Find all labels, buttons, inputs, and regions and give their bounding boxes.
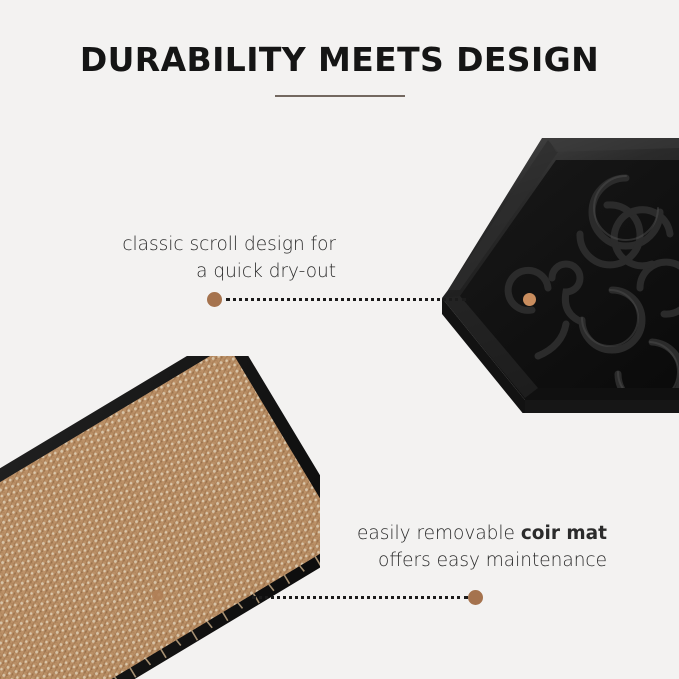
mat-accent-dot: [152, 590, 163, 601]
callout-scroll-design-text: classic scroll design for a quick dry-ou…: [94, 232, 336, 286]
callout-scroll-design-leader-line: [226, 298, 466, 304]
callout-scroll-design-marker-dot: [207, 292, 222, 307]
tray-accent-dot: [523, 293, 536, 306]
boot-tray-graphic: [430, 138, 679, 413]
title-divider: [275, 95, 405, 97]
coir-mat-graphic: [0, 356, 320, 679]
callout-scroll-design-line-2: a quick dry-out: [94, 259, 336, 286]
page-title: DURABILITY MEETS DESIGN: [0, 42, 679, 78]
callout-coir-mat-line-1-prefix: easily removable: [357, 523, 521, 544]
callout-coir-mat-line-1-bold: coir mat: [521, 523, 607, 544]
heading-block: DURABILITY MEETS DESIGN: [0, 42, 679, 78]
boot-tray-image: [430, 138, 679, 413]
mat-body: [0, 356, 320, 679]
coir-mat-image: [0, 356, 320, 679]
callout-coir-mat-line-1: easily removable coir mat: [341, 521, 607, 548]
callout-scroll-design-line-1: classic scroll design for: [94, 232, 336, 259]
infographic-canvas: DURABILITY MEETS DESIGN: [0, 0, 679, 679]
callout-coir-mat-leader-line: [252, 596, 468, 602]
tray-front-wall: [525, 400, 679, 413]
callout-coir-mat-text: easily removable coir mat offers easy ma…: [341, 521, 607, 575]
callout-coir-mat-marker-dot: [468, 590, 483, 605]
callout-coir-mat-line-2: offers easy maintenance: [341, 548, 607, 575]
